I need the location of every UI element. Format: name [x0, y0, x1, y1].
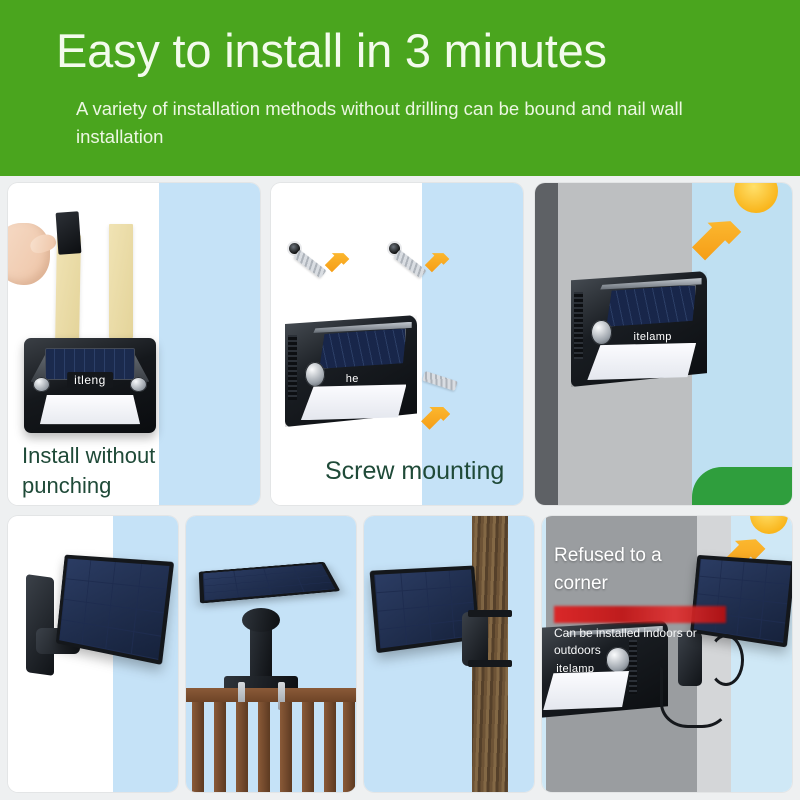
- solar-cell-array: [319, 328, 406, 368]
- red-highlight-bar: [554, 606, 726, 623]
- solar-lamp-angled-view: itelamp: [571, 271, 707, 387]
- panel-tree-pole-mount[interactable]: [364, 516, 534, 792]
- side-led-right: [130, 377, 147, 392]
- motion-sensor: [591, 320, 611, 346]
- adhesive-pad-black: [56, 211, 82, 255]
- wall-edge-shadow: [535, 183, 558, 505]
- adhesive-strip-2: [109, 224, 133, 338]
- strap-bottom: [468, 660, 512, 667]
- page-title: Easy to install in 3 minutes: [56, 26, 744, 77]
- screw-icon: [294, 250, 327, 279]
- panel-fence-mount[interactable]: [186, 516, 356, 792]
- panel-bg-blue: [159, 183, 260, 505]
- header-banner: Easy to install in 3 minutes A variety o…: [0, 0, 800, 176]
- panel-caption: Install without punching: [22, 441, 155, 500]
- brand-label: itleng: [67, 372, 113, 388]
- railing-top-rail: [186, 688, 356, 702]
- fence-picket: [324, 702, 336, 792]
- wall-anchor-group-2: [389, 243, 459, 289]
- fence-picket: [236, 702, 248, 792]
- solar-lamp-angled-view: he: [285, 315, 417, 427]
- panel-caption: Screw mounting: [325, 455, 504, 489]
- fence-picket: [214, 702, 226, 792]
- wall-bracket: [26, 574, 54, 676]
- main-led-panel: [40, 395, 140, 424]
- mounting-bracket: [462, 612, 488, 666]
- connection-cable: [660, 666, 730, 728]
- fence-picket: [343, 702, 355, 792]
- main-led-panel: [543, 671, 629, 710]
- motion-sensor: [305, 362, 325, 387]
- fence-picket: [258, 702, 270, 792]
- main-led-panel: [587, 343, 696, 380]
- heat-fins: [288, 335, 297, 400]
- solar-lamp-front-view: itleng: [24, 338, 156, 433]
- product-infographic: Easy to install in 3 minutes A variety o…: [0, 0, 800, 800]
- grass-strip: [692, 467, 792, 505]
- page-subtitle: A variety of installation methods withou…: [76, 95, 736, 152]
- overlay-title: Refused to a corner: [554, 542, 734, 597]
- fence-picket: [302, 702, 314, 792]
- screw-icon: [394, 250, 427, 279]
- heat-fins: [574, 292, 584, 359]
- wall-anchor-group-1: [289, 243, 359, 289]
- panel-corner-mount[interactable]: itelamp Refused to a corner Can be insta…: [542, 516, 792, 792]
- panel-bracket-mount[interactable]: [8, 516, 178, 792]
- fence-picket: [192, 702, 204, 792]
- overlay-text-block: Refused to a corner Can be installed ind…: [554, 542, 734, 658]
- panel-wall-mounted-outdoor[interactable]: itelamp: [535, 183, 792, 505]
- strap-top: [468, 610, 512, 617]
- panel-install-without-punching[interactable]: itleng Install without punching: [8, 183, 260, 505]
- panel-bg-blue: [364, 516, 534, 792]
- overlay-subtitle-text: Can be installed indoors or outdoors: [554, 626, 697, 656]
- panel-screw-mounting[interactable]: he Screw mounting: [271, 183, 523, 505]
- post-pivot-joint: [242, 608, 280, 632]
- solar-cell-array: [606, 285, 696, 327]
- overlay-subtitle: Can be installed indoors or outdoors: [554, 593, 734, 658]
- main-led-panel: [301, 384, 407, 420]
- brand-label: itelamp: [634, 331, 672, 343]
- brand-label: he: [346, 373, 359, 385]
- fence-picket: [280, 702, 292, 792]
